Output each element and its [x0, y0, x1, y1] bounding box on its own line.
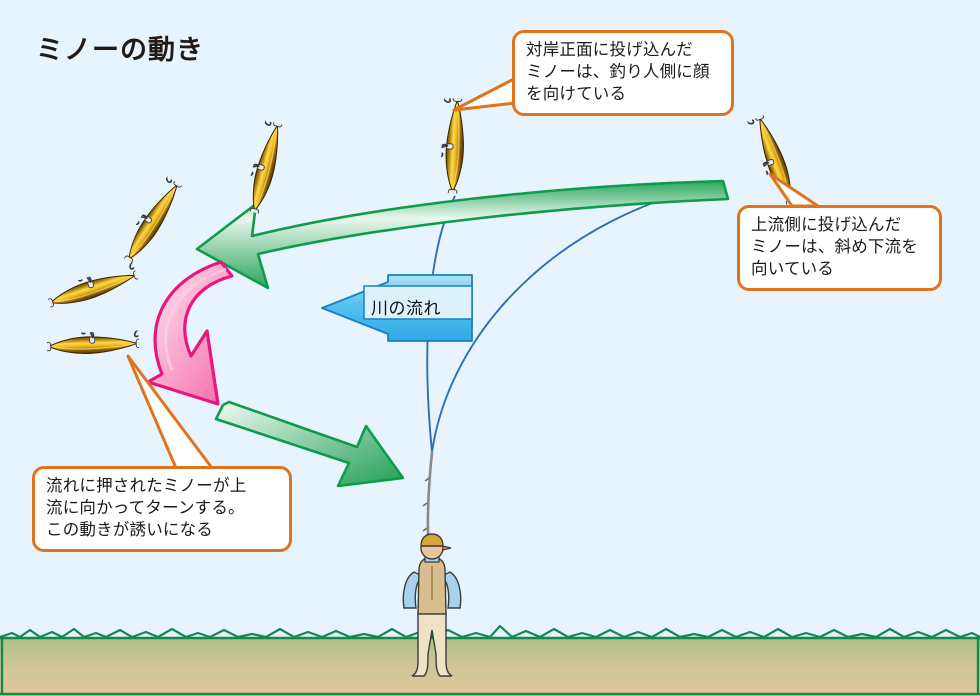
diagram-canvas: ミノーの動き 川の流れ 対岸正面に投げ込んだ ミノーは、釣り人側に顔 を向けてい… — [0, 0, 980, 696]
callout-turn-action: 流れに押されたミノーが上 流に向かってターンする。 この動きが誘いになる — [32, 466, 292, 552]
callout-upstream-cast: 上流側に投げ込んだ ミノーは、斜め下流を 向いている — [737, 205, 942, 291]
flow-label: 川の流れ — [371, 294, 441, 319]
callout-tails — [0, 0, 980, 696]
callout-across-cast: 対岸正面に投げ込んだ ミノーは、釣り人側に顔 を向けている — [512, 30, 734, 116]
page-title: ミノーの動き — [36, 28, 204, 67]
